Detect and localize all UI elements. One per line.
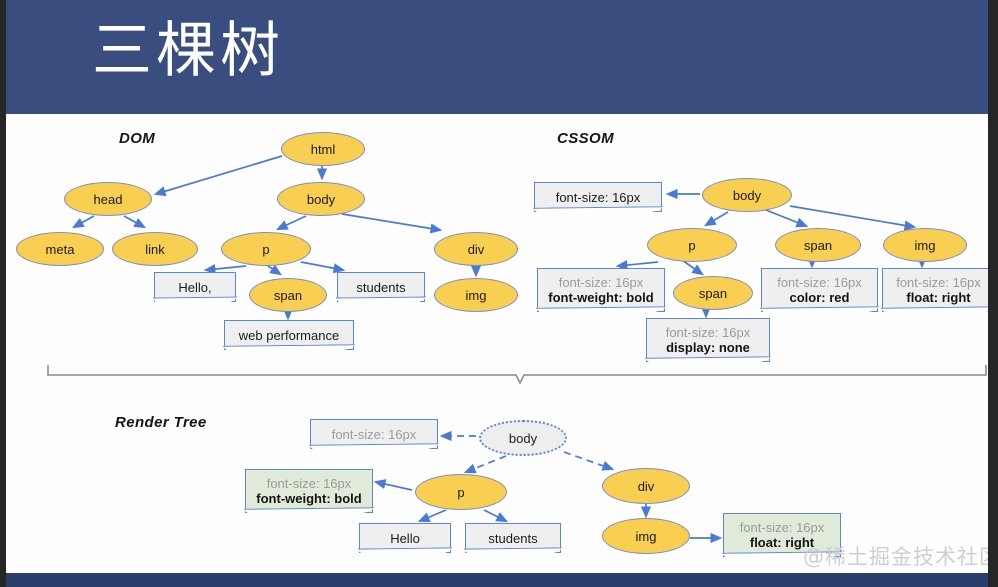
cssom-box-line: font-size: 16px (777, 275, 862, 290)
dom-node-meta: meta (16, 232, 104, 266)
cssom-box-span2-style: font-size: 16pxdisplay: none (646, 318, 770, 362)
render-node-p: p (415, 474, 507, 510)
render-box-body-hello: Hello (359, 523, 451, 553)
dom-box-body-webperf: web performance (224, 320, 354, 350)
render-box-hello: Hello (359, 523, 451, 553)
cssom-box-body-img-style: font-size: 16pxfloat: right (882, 268, 995, 312)
dom-box-hello: Hello, (154, 272, 236, 302)
bezel-right (988, 0, 998, 587)
diagram-canvas: DOM CSSOM Render Tree (6, 114, 988, 574)
cssom-box-body-span1-style: font-size: 16pxcolor: red (761, 268, 878, 312)
render-box-p-style: font-size: 16pxfont-weight: bold (245, 469, 373, 513)
cssom-box-line: font-size: 16px (559, 275, 644, 290)
cssom-node-span1: span (775, 228, 861, 262)
cssom-node-span2: span (673, 276, 753, 310)
cssom-box-span1-style: font-size: 16pxcolor: red (761, 268, 878, 312)
render-box-line: Hello (390, 531, 420, 546)
slide-root: 三棵树 DOM CSSOM Render Tree (0, 0, 998, 587)
render-box-line: students (488, 531, 537, 546)
render-box-students: students (465, 523, 561, 553)
cssom-box-line: font-weight: bold (548, 290, 653, 305)
dom-node-img: img (434, 278, 518, 312)
render-box-line: font-size: 16px (267, 476, 352, 491)
connector-lines (6, 114, 988, 574)
dom-node-html: html (281, 132, 365, 166)
dom-box-line: web performance (239, 328, 339, 343)
cssom-box-line: color: red (790, 290, 850, 305)
render-box-line: font-weight: bold (256, 491, 361, 506)
cssom-box-line: float: right (906, 290, 970, 305)
cssom-box-line: font-size: 16px (666, 325, 751, 340)
bezel-left (0, 0, 6, 587)
cssom-node-body: body (702, 178, 792, 212)
render-box-body-style: font-size: 16px (310, 419, 438, 449)
render-box-line: font-size: 16px (740, 520, 825, 535)
slide-header: 三棵树 (6, 0, 988, 114)
cssom-box-line: font-size: 16px (896, 275, 981, 290)
render-box-line: font-size: 16px (332, 427, 417, 442)
cssom-box-line: display: none (666, 340, 750, 355)
page-title: 三棵树 (92, 8, 284, 94)
cssom-box-line: font-size: 16px (556, 190, 641, 205)
dom-box-students: students (337, 272, 425, 302)
dom-box-body-hello: Hello, (154, 272, 236, 302)
grouping-bracket (42, 364, 992, 388)
render-node-div: div (602, 468, 690, 504)
render-box-body-p-style: font-size: 16pxfont-weight: bold (245, 469, 373, 513)
cssom-box-p-style: font-size: 16pxfont-weight: bold (537, 268, 665, 312)
cssom-node-img: img (883, 228, 967, 262)
cssom-box-body-style: font-size: 16px (534, 182, 662, 212)
dom-box-line: Hello, (178, 280, 211, 295)
watermark: @稀土掘金技术社区 (803, 541, 998, 571)
dom-node-div: div (434, 232, 518, 266)
cssom-box-body-p-style: font-size: 16pxfont-weight: bold (537, 268, 665, 312)
bezel-bottom (0, 573, 998, 587)
cssom-box-body-body-style: font-size: 16px (534, 182, 662, 212)
dom-node-link: link (112, 232, 198, 266)
render-box-body-students: students (465, 523, 561, 553)
dom-box-webperf: web performance (224, 320, 354, 350)
cssom-box-img-style: font-size: 16pxfloat: right (882, 268, 995, 312)
cssom-node-p: p (647, 228, 737, 262)
cssom-box-body-span2-style: font-size: 16pxdisplay: none (646, 318, 770, 362)
dom-box-body-students: students (337, 272, 425, 302)
render-node-body: body (479, 420, 567, 456)
render-box-body-body-style: font-size: 16px (310, 419, 438, 449)
dom-node-body: body (277, 182, 365, 216)
dom-node-span: span (249, 278, 327, 312)
render-node-img: img (602, 518, 690, 554)
dom-node-p: p (221, 232, 311, 266)
dom-box-line: students (356, 280, 405, 295)
dom-node-head: head (64, 182, 152, 216)
